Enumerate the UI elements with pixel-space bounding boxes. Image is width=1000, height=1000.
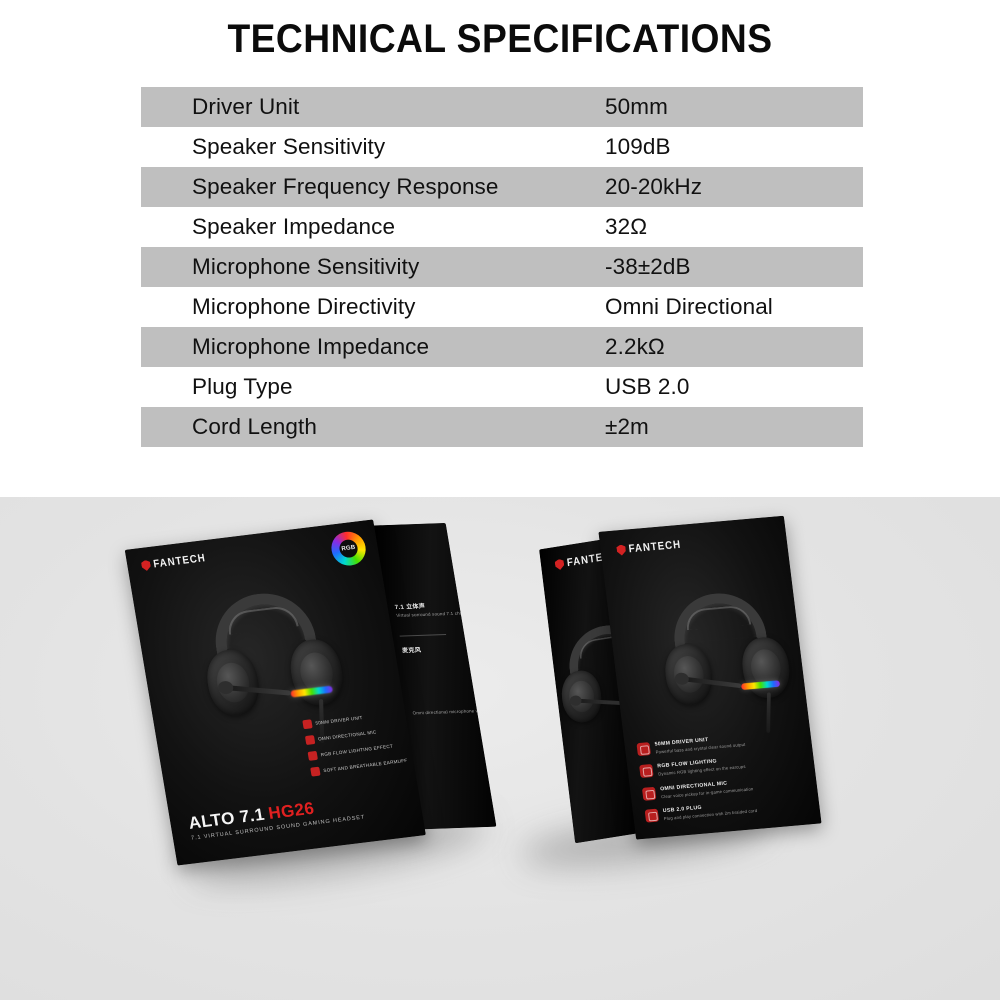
headset-earcup-right [739,635,792,699]
feature-text: 50MM DRIVER UNIT Powerful bass and cryst… [654,734,745,755]
spec-label: Plug Type [192,374,293,400]
feature-label: OMNI DIRECTIONAL MIC [318,729,377,741]
spec-value: -38±2dB [605,254,691,280]
package-back-panel: FANTECH 50MM DRIVER UNIT Powerf [598,516,821,840]
spec-value: 50mm [605,94,668,120]
table-row: Speaker Sensitivity 109dB [141,127,863,167]
feature-bullet-list: 50MM DRIVER UNIT Powerful bass and cryst… [636,729,809,823]
table-row: Plug Type USB 2.0 [141,367,863,407]
feature-text: USB 2.0 PLUG Plug and play connection wi… [663,800,758,821]
headset-cable [766,692,770,732]
table-row: Driver Unit 50mm [141,87,863,127]
list-item: USB 2.0 PLUG Plug and play connection wi… [645,795,810,822]
model-code: HG26 [267,799,316,823]
specifications-table: Driver Unit 50mm Speaker Sensitivity 109… [141,87,863,447]
side-panel-subtext: Omni directional microphone with noise c… [412,707,496,716]
spec-label: Microphone Impedance [192,334,429,360]
spec-label: Speaker Impedance [192,214,395,240]
headset-earcup-left [203,647,264,718]
feature-icon [639,764,654,778]
feature-text: OMNI DIRECTIONAL MIC Clear voice pickup … [660,778,754,799]
table-row: Microphone Directivity Omni Directional [141,287,863,327]
feature-icon [642,786,657,800]
spec-label: Cord Length [192,414,317,440]
headset-earcup-right [286,637,347,708]
product-model-block: ALTO 7.1HG26 7.1 VIRTUAL SURROUND SOUND … [187,793,366,842]
spec-value: ±2m [605,414,649,440]
fantech-mark-icon [554,558,564,570]
feature-text: RGB FLOW LIGHTING Dynamic RGB lighting e… [657,756,746,777]
spec-label: Microphone Sensitivity [192,254,419,280]
spec-label: Speaker Frequency Response [192,174,499,200]
table-row: Speaker Impedance 32Ω [141,207,863,247]
product-packaging-photo-section: 7.1 立体声 Virtual surround sound 7.1 chann… [0,497,1000,1000]
table-row: Microphone Impedance 2.2kΩ [141,327,863,367]
side-panel-block-2: 麦克风 [401,645,422,655]
divider [400,634,447,637]
headset-earcup-left [559,668,604,725]
spec-value: 20-20kHz [605,174,702,200]
side-panel-heading: 麦克风 [401,645,422,655]
page-title: TECHNICAL SPECIFICATIONS [35,16,965,62]
product-spec-page: TECHNICAL SPECIFICATIONS Driver Unit 50m… [0,0,1000,1000]
spec-label: Speaker Sensitivity [192,134,385,160]
brand-name: FANTECH [153,552,207,570]
headset-illustration [649,584,803,733]
list-item: SOFT AND BREATHABLE EARMUFF [310,756,408,777]
rgb-badge-label: RGB [338,539,359,559]
bullet-dot-icon [307,751,317,761]
package-box-front: 7.1 立体声 Virtual surround sound 7.1 chann… [125,508,516,865]
table-row: Cord Length ±2m [141,407,863,447]
bullet-dot-icon [302,719,312,729]
fantech-mark-icon [616,544,626,556]
spec-label: Driver Unit [192,94,299,120]
bullet-dot-icon [304,735,314,745]
side-panel-block-3: Omni directional microphone with noise c… [412,705,497,716]
bullet-dot-icon [310,767,320,777]
spec-value: 2.2kΩ [605,334,665,360]
spec-value: 109dB [605,134,671,160]
package-box-back: FANTECH FANTECH [538,511,875,845]
feature-icon [636,742,651,756]
fantech-logo: FANTECH [616,538,689,556]
feature-label: SOFT AND BREATHABLE EARMUFF [323,758,408,773]
spec-value: 32Ω [605,214,647,240]
package-front-panel: FANTECH RGB 50MM DRIVER UNIT [125,519,426,865]
spec-value: Omni Directional [605,294,773,320]
feature-bullet-list: 50MM DRIVER UNIT OMNI DIRECTIONAL MIC RG… [302,709,408,777]
technical-specifications-section: TECHNICAL SPECIFICATIONS Driver Unit 50m… [0,0,1000,497]
table-row: Speaker Frequency Response 20-20kHz [141,167,863,207]
spec-value: USB 2.0 [605,374,690,400]
headset-earcup-left [662,642,715,706]
rgb-badge-icon: RGB [329,530,368,568]
table-row: Microphone Sensitivity -38±2dB [141,247,863,287]
brand-name: FANTECH [628,539,682,555]
feature-label: RGB FLOW LIGHTING EFFECT [320,744,393,758]
spec-label: Microphone Directivity [192,294,416,320]
fantech-mark-icon [141,559,152,571]
fantech-logo: FANTECH [141,551,214,572]
feature-icon [645,808,660,822]
